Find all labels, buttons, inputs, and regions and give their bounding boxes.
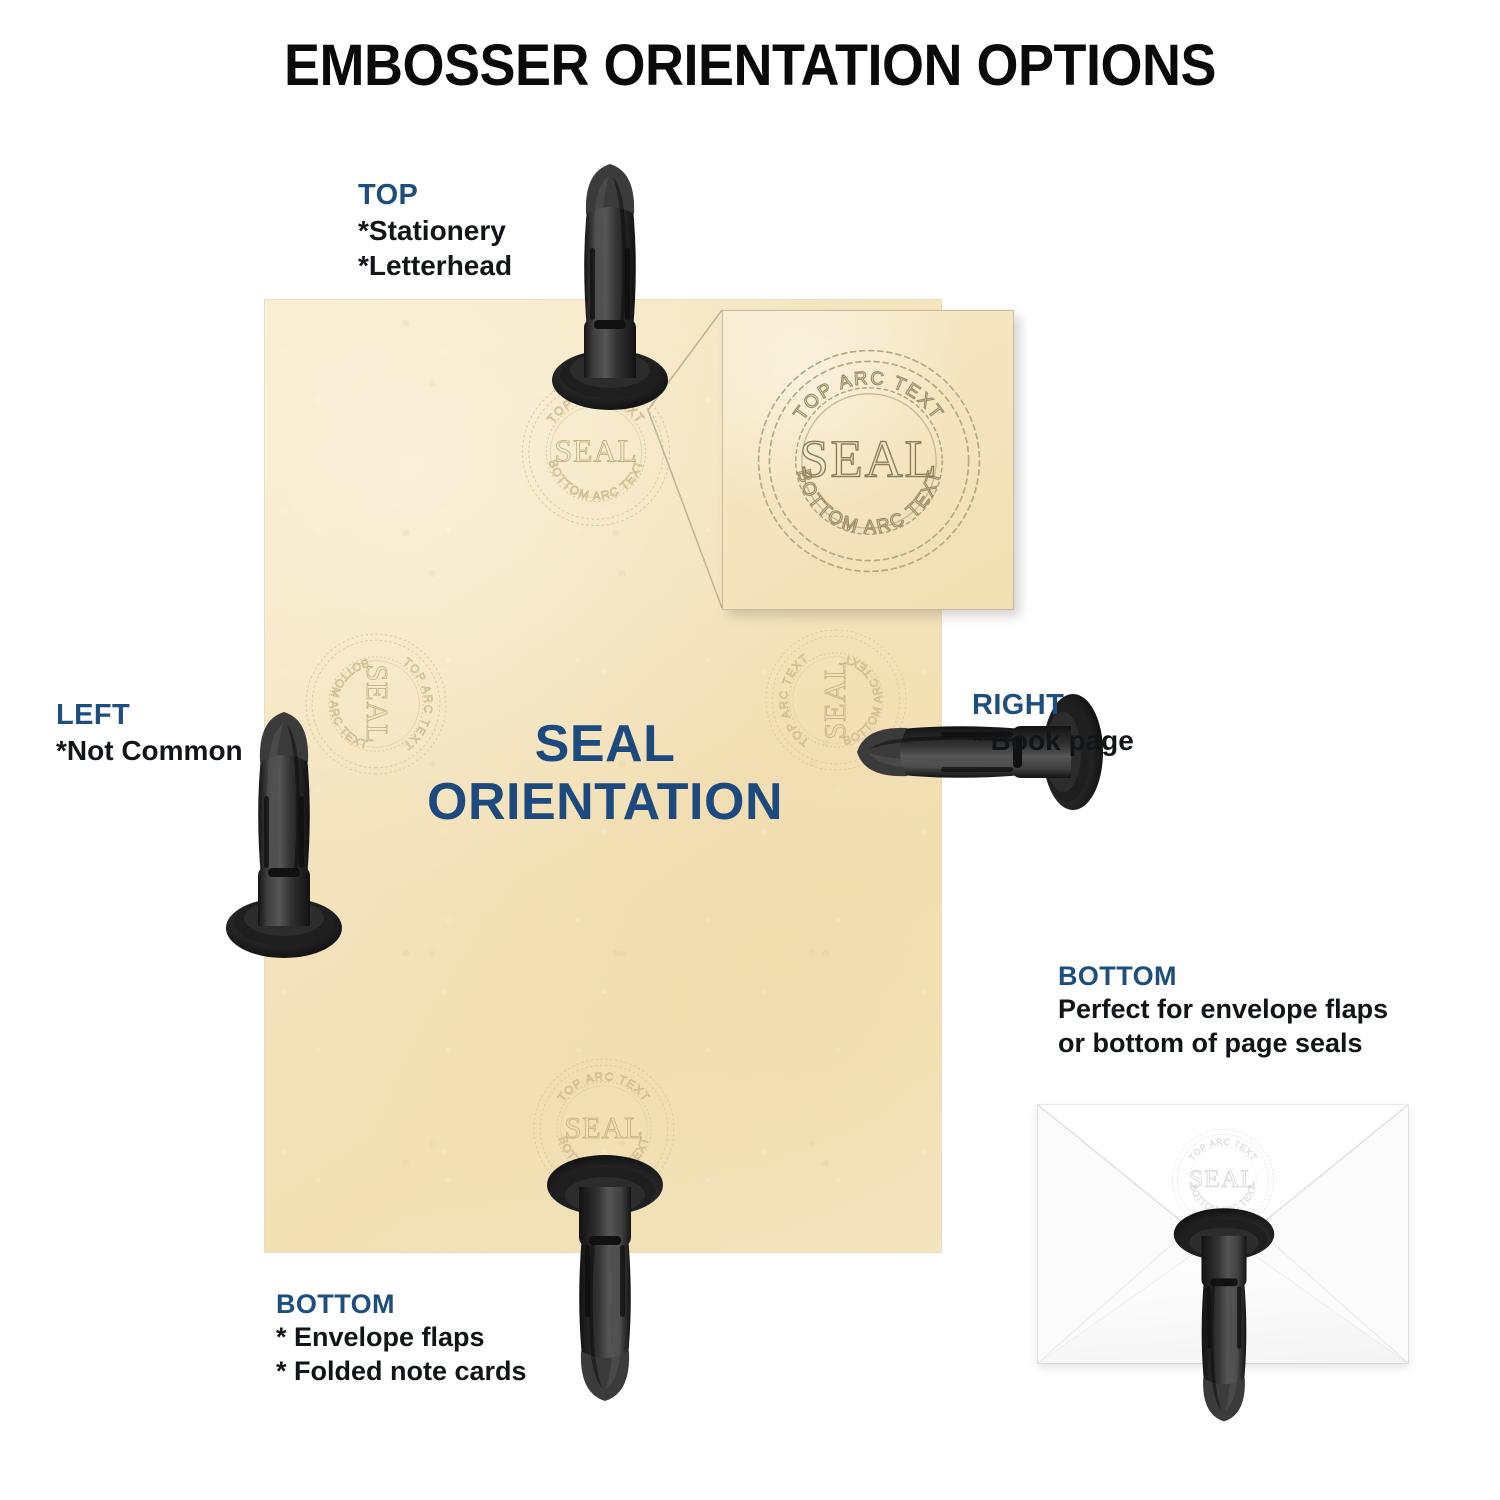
callout-bottom-envelope-line-1: Perfect for envelope flaps	[1058, 993, 1388, 1027]
page-title: EMBOSSER ORIENTATION OPTIONS	[53, 32, 1448, 99]
callout-top-line-2: *Letterhead	[358, 248, 512, 283]
callout-left-heading: LEFT	[56, 698, 243, 733]
callout-top: TOP *Stationery *Letterhead	[358, 178, 512, 283]
center-wordmark-line1: SEAL	[305, 715, 905, 773]
envelope-icon	[1038, 1105, 1408, 1363]
callout-bottom-envelope-line-2: or bottom of page seals	[1058, 1027, 1388, 1061]
callout-top-heading: TOP	[358, 178, 512, 213]
center-wordmark-line2: ORIENTATION	[305, 773, 905, 831]
callout-left: LEFT *Not Common	[56, 698, 243, 768]
svg-text:SEAL: SEAL	[799, 431, 938, 489]
illustration-canvas: EMBOSSER ORIENTATION OPTIONS TOP ARC TEX…	[0, 0, 1500, 1500]
callout-right: RIGHT * Book page	[972, 688, 1134, 758]
callout-right-line-1: * Book page	[972, 723, 1134, 758]
envelope-seams	[1038, 1105, 1408, 1363]
embossed-seal-magnified: TOP ARC TEXT BOTTOM ARC TEXT SEAL	[749, 339, 989, 588]
center-wordmark: SEAL ORIENTATION	[305, 715, 905, 831]
svg-text:TOP ARC TEXT: TOP ARC TEXT	[789, 367, 949, 424]
callout-left-line-1: *Not Common	[56, 733, 243, 768]
callout-bottom-paper-line-2: * Folded note cards	[276, 1355, 527, 1389]
callout-top-line-1: *Stationery	[358, 213, 512, 248]
callout-bottom-envelope-heading: BOTTOM	[1058, 960, 1388, 993]
callout-bottom-paper-heading: BOTTOM	[276, 1288, 527, 1321]
magnifier-inset: TOP ARC TEXT BOTTOM ARC TEXT SEAL	[722, 310, 1014, 610]
callout-bottom-envelope: BOTTOM Perfect for envelope flaps or bot…	[1058, 960, 1388, 1060]
callout-right-heading: RIGHT	[972, 688, 1134, 723]
callout-bottom-paper-line-1: * Envelope flaps	[276, 1321, 527, 1355]
callout-bottom-paper: BOTTOM * Envelope flaps * Folded note ca…	[276, 1288, 527, 1388]
